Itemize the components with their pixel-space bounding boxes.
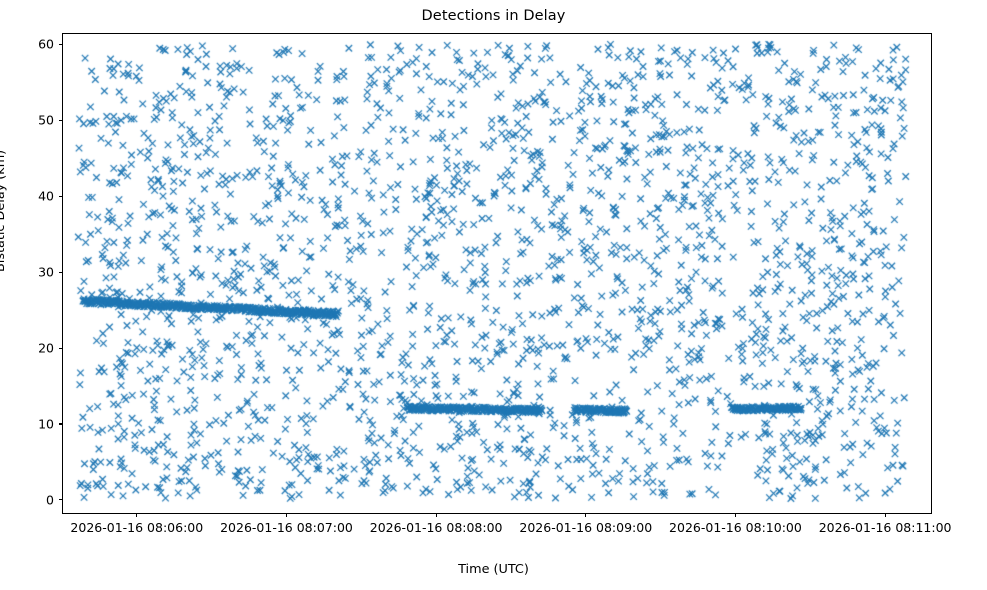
y-tick-label: 0 [8,492,54,507]
y-tick-label: 50 [8,113,54,128]
x-tick-label: 2026-01-16 08:08:00 [370,520,503,535]
x-tick-label: 2026-01-16 08:09:00 [519,520,652,535]
x-tick-label: 2026-01-16 08:07:00 [220,520,353,535]
y-tick-label: 30 [8,265,54,280]
page-title: Detections in Delay [0,8,987,24]
x-tick-label: 2026-01-16 08:11:00 [819,520,952,535]
matplotlib-figure: Detections in Delay 0102030405060 2026-0… [0,0,987,590]
y-axis-label: Bistatic Delay (km) [0,150,8,272]
y-tick-label: 20 [8,341,54,356]
x-axis-label: Time (UTC) [0,562,987,577]
plot-area [62,33,932,514]
y-tick-label: 10 [8,416,54,431]
x-tick-label: 2026-01-16 08:06:00 [70,520,203,535]
y-tick-label: 40 [8,189,54,204]
x-tick-label: 2026-01-16 08:10:00 [669,520,802,535]
scatter-plot-canvas [63,34,931,513]
y-tick-label: 60 [8,37,54,52]
